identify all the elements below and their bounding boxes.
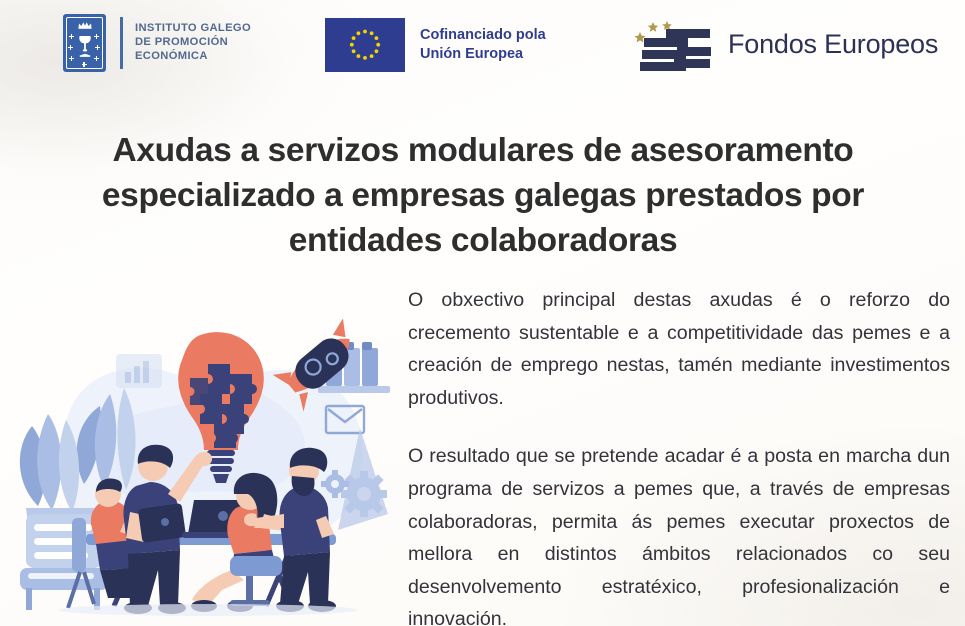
cross-icon: [94, 34, 99, 39]
logo-fondos-europeos-text: Fondos Europeos: [728, 29, 938, 59]
logo-bar: INSTITUTO GALEGO DE PROMOCIÓN ECONÓMICA: [0, 0, 965, 88]
xunta-de-galicia-coat-of-arms-icon: [63, 14, 106, 72]
logo-eu-text: Cofinanciado pola Unión Europea: [420, 26, 546, 64]
poster-page: INSTITUTO GALEGO DE PROMOCIÓN ECONÓMICA: [0, 0, 965, 626]
igape-line-2: DE PROMOCIÓN: [135, 36, 251, 50]
team-brainstorming-illustration: [8, 318, 398, 618]
logo-european-union: Cofinanciado pola Unión Europea: [325, 18, 546, 72]
paragraph-result: O resultado que se pretende acadar é a p…: [408, 440, 950, 626]
body-text-column: O obxectivo principal destas axudas é o …: [408, 284, 950, 626]
floor-shadow: [58, 604, 358, 616]
cross-icon: [68, 45, 73, 50]
eu-line-1: Cofinanciado pola: [420, 26, 546, 45]
cross-icon: [82, 62, 87, 67]
fondos-europeos-stairs-icon: [620, 10, 720, 78]
page-title: Axudas a servizos modulares de asesorame…: [38, 128, 928, 263]
crown-icon: [77, 21, 92, 29]
cross-icon: [94, 56, 99, 61]
logo-divider: [120, 17, 123, 69]
cross-icon: [69, 34, 74, 39]
cross-icon: [95, 45, 100, 50]
igape-line-3: ECONÓMICA: [135, 50, 251, 64]
eu-line-2: Unión Europea: [420, 45, 546, 64]
stairs-bars-group: [640, 29, 711, 71]
paragraph-objective: O obxectivo principal destas axudas é o …: [408, 284, 950, 414]
logo-fondos-europeos: Fondos Europeos: [620, 10, 938, 78]
igape-line-1: INSTITUTO GALEGO: [135, 22, 251, 36]
eu-stars-circle: [325, 18, 405, 72]
european-union-flag-icon: [325, 18, 405, 72]
logo-igape: INSTITUTO GALEGO DE PROMOCIÓN ECONÓMICA: [63, 14, 251, 72]
cross-icon: [69, 56, 74, 61]
logo-igape-text: INSTITUTO GALEGO DE PROMOCIÓN ECONÓMICA: [135, 22, 251, 63]
chalice-icon: [77, 34, 92, 58]
wall-chart-icon: [116, 354, 162, 388]
